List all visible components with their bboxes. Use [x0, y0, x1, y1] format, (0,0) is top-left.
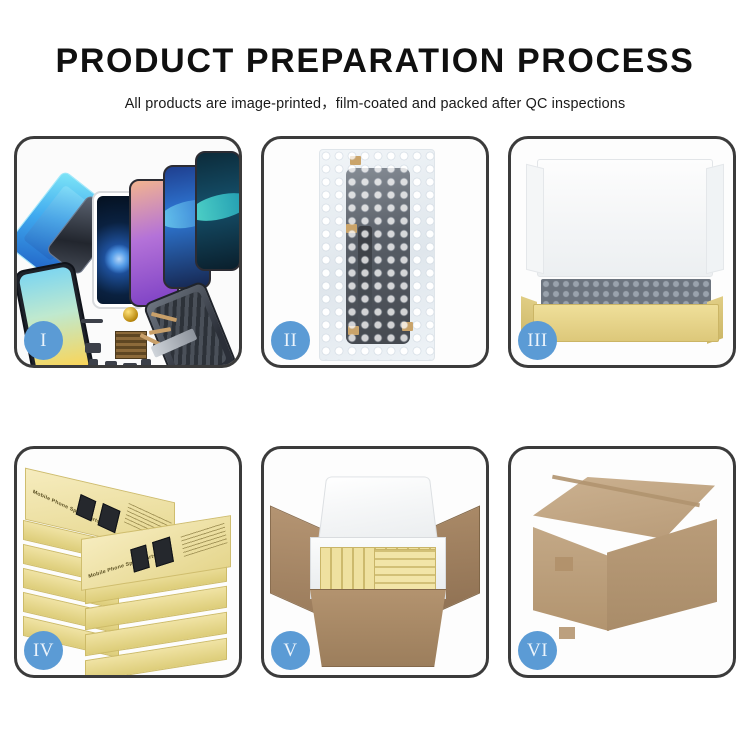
process-step-3: III [508, 136, 736, 368]
step-badge-1: I [24, 321, 63, 360]
step-badge-5: V [271, 631, 310, 670]
tape-icon [348, 326, 359, 335]
header: PRODUCT PREPARATION PROCESS All products… [0, 0, 750, 113]
tape-icon [346, 224, 357, 233]
vibration-motor-icon [123, 307, 138, 322]
spare-parts-cluster [79, 309, 199, 368]
lcd-screen-icon [346, 168, 410, 344]
yellow-boxes-row [374, 549, 436, 591]
carton-tape-icon [555, 557, 573, 571]
foam-lid-icon [537, 159, 713, 277]
carton-body [304, 589, 452, 667]
product-preparation-infographic: PRODUCT PREPARATION PROCESS All products… [0, 0, 750, 750]
page-subtitle: All products are image-printed，film-coat… [0, 92, 750, 113]
step-badge-3: III [518, 321, 557, 360]
step-badge-2: II [271, 321, 310, 360]
process-step-5: V [261, 446, 489, 678]
step-badge-4: IV [24, 631, 63, 670]
process-step-4: Mobile Phone Spare Parts Mobile Phone Sp… [14, 446, 242, 678]
kraft-box-front [533, 304, 719, 342]
teal-wave-phone-icon [195, 151, 241, 271]
tape-icon [402, 322, 413, 331]
process-step-grid: I II [14, 136, 736, 678]
bubble-wrap-bag-icon [319, 149, 435, 361]
process-step-2: II [261, 136, 489, 368]
process-step-1: I [14, 136, 242, 368]
step-badge-6: VI [518, 631, 557, 670]
tape-icon [350, 156, 361, 165]
page-title: PRODUCT PREPARATION PROCESS [0, 42, 750, 81]
carton-tape-icon [559, 627, 575, 639]
process-step-6: VI [508, 446, 736, 678]
carton-left-face [533, 527, 609, 631]
